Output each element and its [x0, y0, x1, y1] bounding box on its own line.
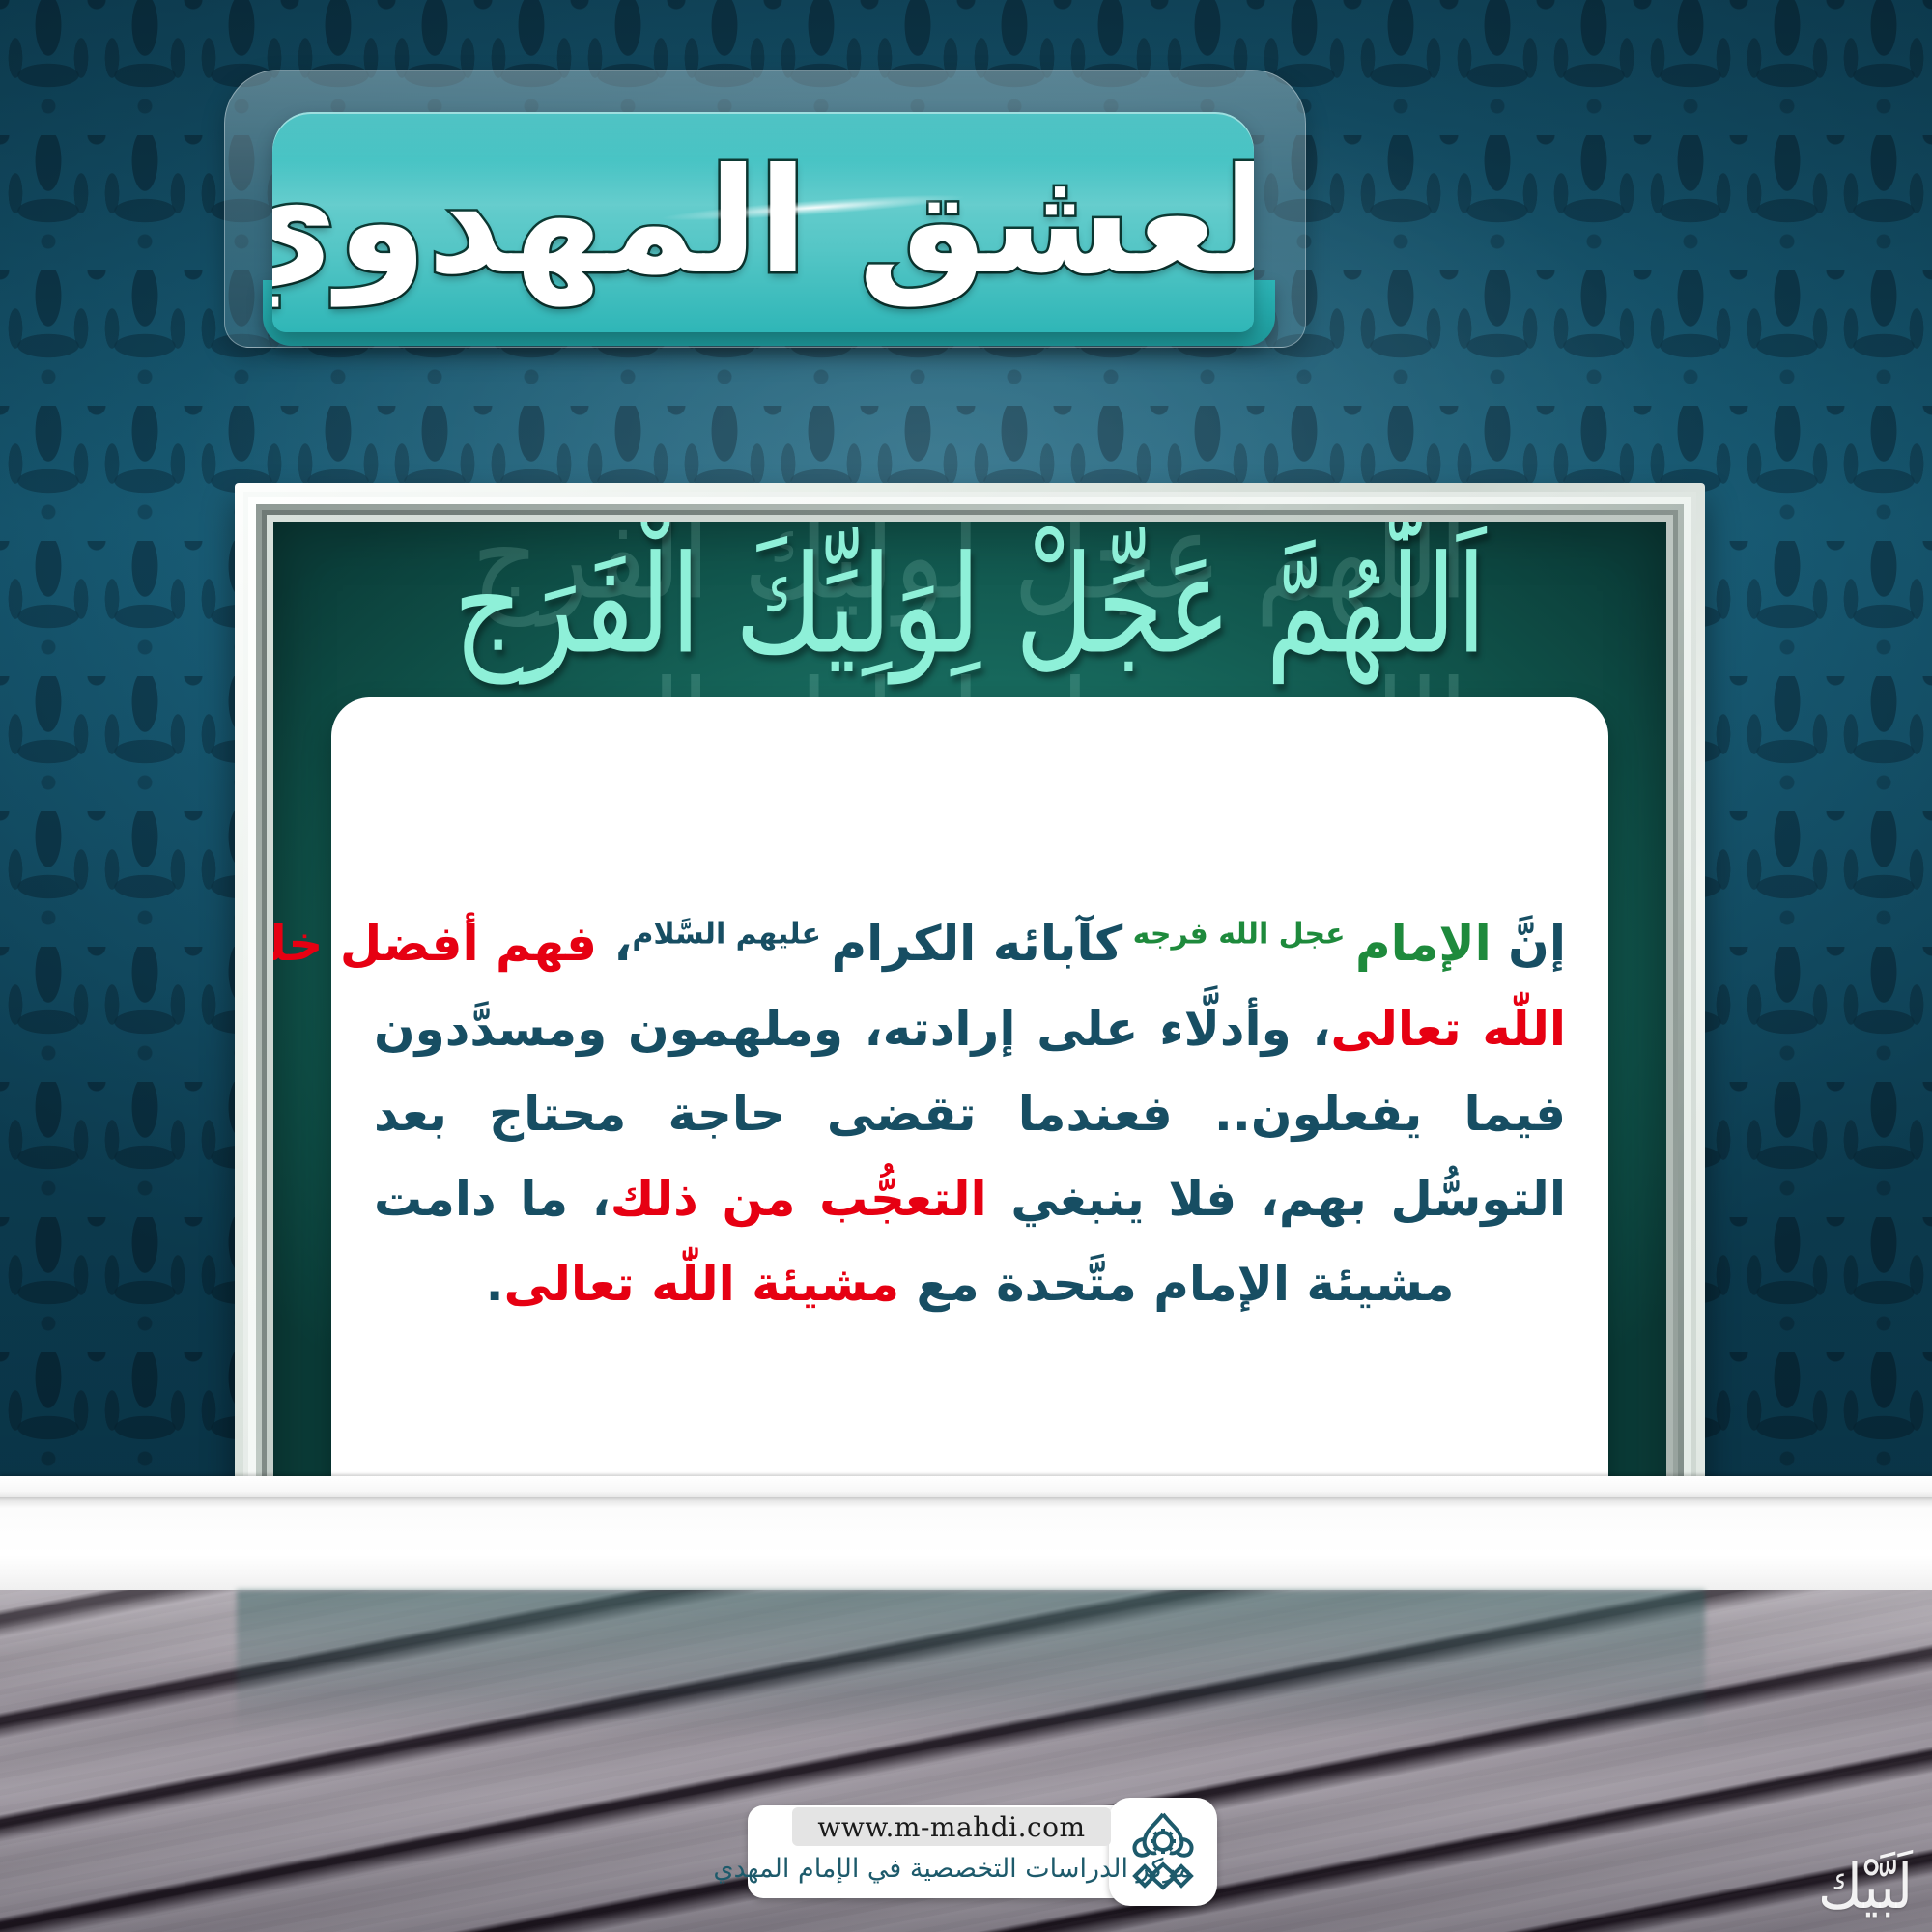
frame-floor-reflection — [237, 1590, 1705, 1735]
footer-logo-block: www.m-mahdi.com مركز الدراسات التخصصية ف… — [734, 1792, 1217, 1913]
green-board: اللهم عجل لوليك الفرجاللهم عجل لوليك الف… — [273, 522, 1666, 1555]
organization-logo-icon — [1109, 1798, 1217, 1906]
quote-segment: الإمام — [1355, 916, 1492, 972]
quote-segment: ، — [597, 916, 632, 972]
quote-line-5: مشيئة الإمام متَّحدة مع مشيئة اللّٰه تعا… — [374, 1260, 1566, 1308]
picture-frame: اللهم عجل لوليك الفرجاللهم عجل لوليك الف… — [235, 483, 1705, 1594]
quote-segment: مشيئة اللّٰه تعالى — [504, 1256, 900, 1312]
quote-card: إنَّ الإمام عجل الله فرجه كآبائه الكرام … — [331, 697, 1608, 1530]
quote-segment: مشيئة الإمام متَّحدة مع — [899, 1256, 1454, 1312]
quote-segment: التعجُّب من ذلك — [611, 1171, 987, 1227]
quote-segment: اللّٰه تعالى — [1331, 1001, 1567, 1057]
wall-baseboard — [0, 1476, 1932, 1590]
quote-segment: فيما يفعلون.. فعندما تقضى حاجة محتاج بعد — [374, 1086, 1566, 1142]
quote-segment: التوسُّل بهم، فلا ينبغي — [987, 1171, 1566, 1227]
title-banner: العشق المهدوي — [272, 112, 1254, 332]
quote-segment: إنَّ — [1492, 916, 1566, 972]
quote-segment: فهم أفضل خلق — [273, 916, 597, 972]
quote-segment: كآبائه الكرام — [831, 916, 1122, 972]
organization-name: مركز الدراسات التخصصية في الإمام المهدي — [788, 1846, 1117, 1890]
quote-line-4: التوسُّل بهم، فلا ينبغي التعجُّب من ذلك،… — [374, 1175, 1566, 1223]
quote-segment: عليهم السَّلام — [632, 917, 831, 951]
invocation-calligraphy: اَللّٰهُمَّ عَجِّلْ لِوَلِيِّكَ الْفَرَج — [273, 527, 1666, 685]
quote-line-2: اللّٰه تعالى، وأدلَّاء على إرادته، وملهم… — [374, 1005, 1566, 1053]
quote-segment: . — [486, 1256, 504, 1312]
quote-segment: ، وأدلَّاء على إرادته، وملهمون ومسدَّدون — [374, 1001, 1331, 1057]
corner-watermark-calligraphy: لَبَّيْك — [1818, 1851, 1913, 1923]
website-url[interactable]: www.m-mahdi.com — [792, 1807, 1111, 1846]
quote-segment: ، ما دامت — [374, 1171, 611, 1227]
quote-line-1: إنَّ الإمام عجل الله فرجه كآبائه الكرام … — [374, 920, 1566, 968]
quote-segment: عجل الله فرجه — [1122, 917, 1355, 951]
quote-line-3: فيما يفعلون.. فعندما تقضى حاجة محتاج بعد — [374, 1090, 1566, 1138]
poster-title: العشق المهدوي — [272, 112, 1254, 332]
